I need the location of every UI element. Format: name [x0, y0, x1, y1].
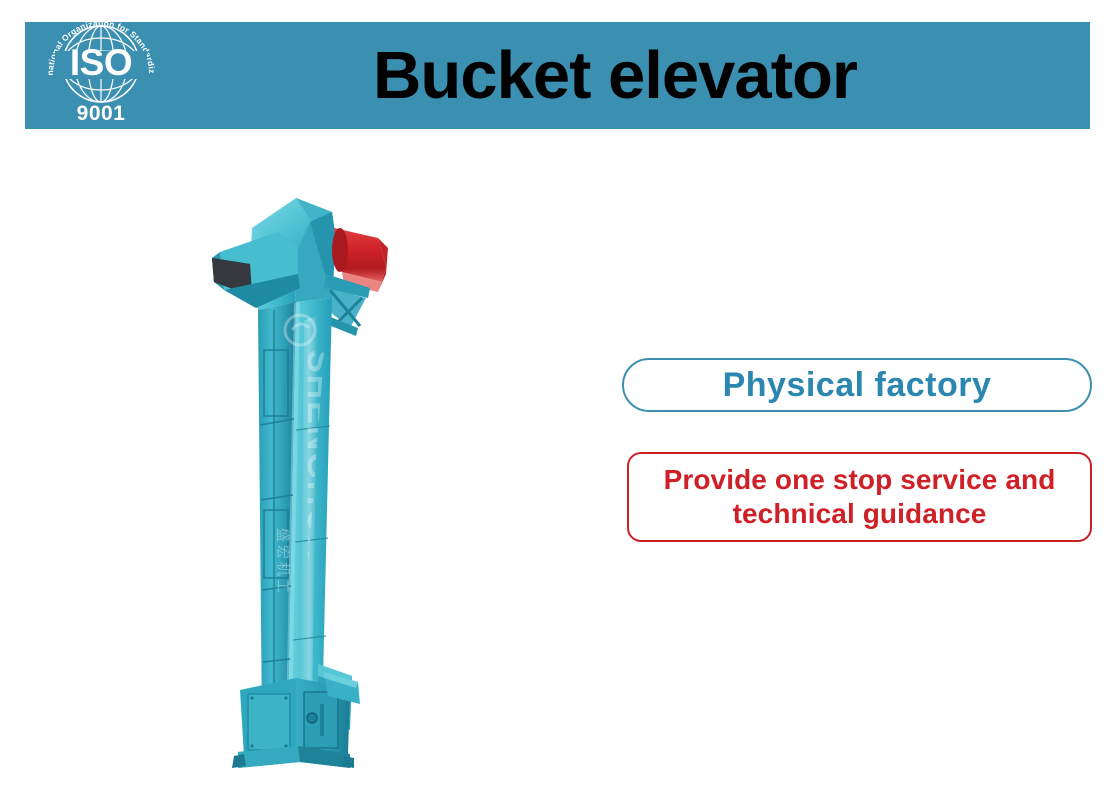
physical-factory-callout: Physical factory: [622, 358, 1092, 412]
physical-factory-label: Physical factory: [723, 368, 992, 402]
iso-globe-icon: International Organization for Standardi…: [37, 8, 165, 126]
svg-text:9001: 9001: [77, 102, 126, 125]
page-title: Bucket elevator: [205, 22, 1025, 129]
one-stop-service-callout: Provide one stop service and technical g…: [627, 452, 1092, 542]
svg-text:盛宏机工: 盛宏机工: [275, 528, 291, 596]
iso-9001-logo: International Organization for Standardi…: [37, 8, 165, 126]
one-stop-service-label: Provide one stop service and technical g…: [639, 463, 1080, 531]
product-photo: SHENGHONG 盛宏机工: [200, 170, 450, 770]
svg-text:ISO: ISO: [70, 42, 132, 83]
bucket-elevator-icon: SHENGHONG 盛宏机工: [200, 170, 450, 770]
header-band: Bucket elevator: [25, 22, 1090, 129]
